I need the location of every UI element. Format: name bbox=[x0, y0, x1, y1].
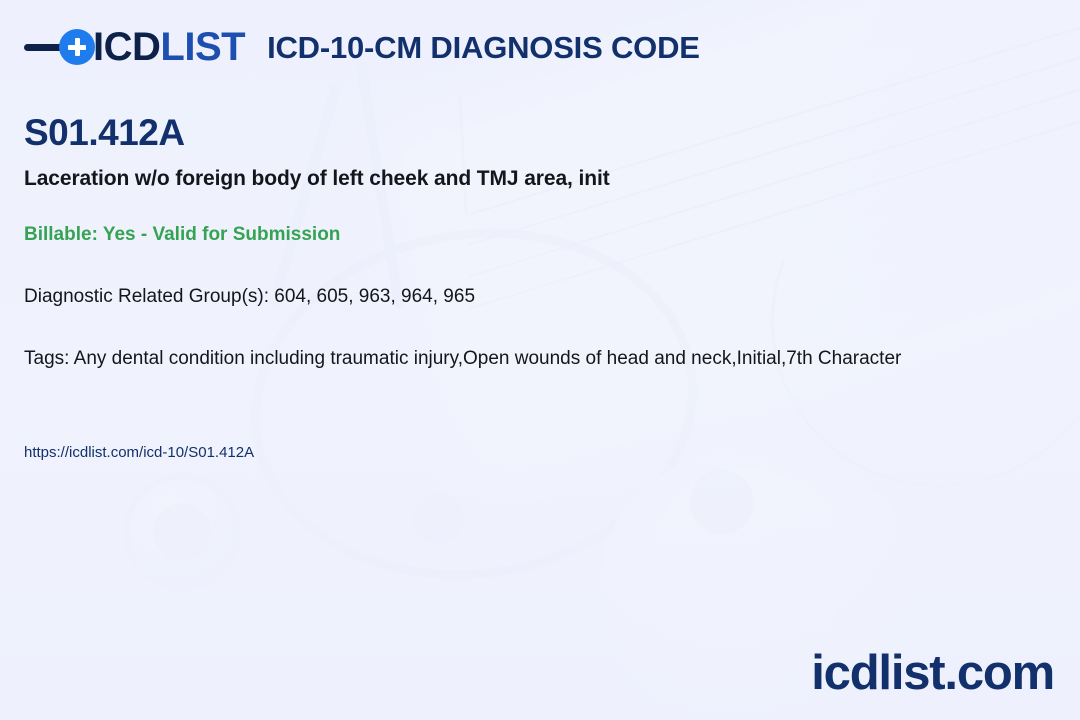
tags-line: Tags: Any dental condition including tra… bbox=[24, 348, 1080, 370]
logo-wordmark-list: LIST bbox=[160, 25, 245, 69]
diagnosis-description: Laceration w/o foreign body of left chee… bbox=[24, 167, 610, 191]
plus-circle-icon bbox=[59, 29, 95, 65]
logo-wordmark-icd: ICD bbox=[93, 25, 160, 69]
source-url[interactable]: https://icdlist.com/icd-10/S01.412A bbox=[24, 444, 254, 461]
site-watermark: icdlist.com bbox=[811, 649, 1054, 698]
icd-code-share-card: ICDLIST ICD-10-CM DIAGNOSIS CODE S01.412… bbox=[0, 0, 1080, 720]
card-header: ICDLIST ICD-10-CM DIAGNOSIS CODE bbox=[24, 27, 700, 67]
card-content: ICDLIST ICD-10-CM DIAGNOSIS CODE S01.412… bbox=[0, 0, 1080, 720]
icdlist-logo[interactable]: ICDLIST bbox=[24, 27, 245, 67]
diagnosis-code: S01.412A bbox=[24, 113, 185, 154]
logo-wordmark: ICDLIST bbox=[93, 27, 245, 67]
plus-icon-vertical-bar bbox=[75, 38, 80, 56]
page-title: ICD-10-CM DIAGNOSIS CODE bbox=[267, 32, 700, 63]
diagnostic-related-groups: Diagnostic Related Group(s): 604, 605, 9… bbox=[24, 286, 475, 308]
billable-status: Billable: Yes - Valid for Submission bbox=[24, 224, 340, 246]
